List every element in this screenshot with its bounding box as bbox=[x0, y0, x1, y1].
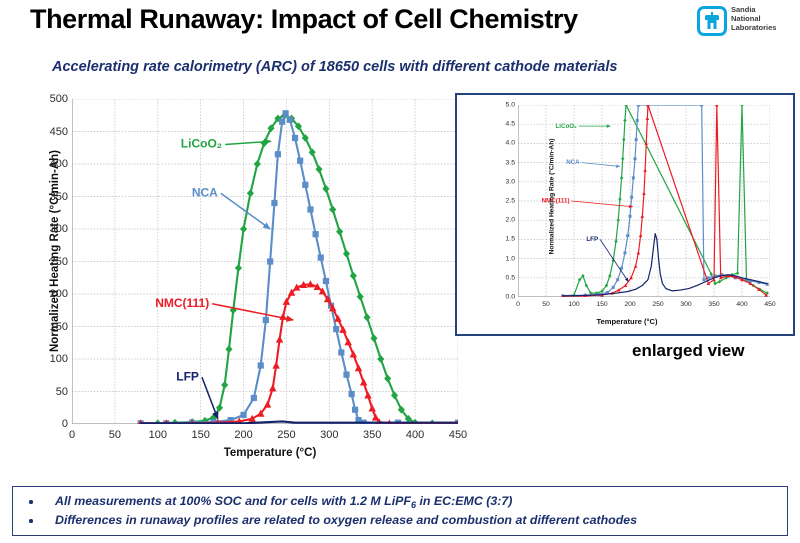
inset-svg-y-tick: 3.0 bbox=[506, 178, 515, 185]
sandia-logo-icon bbox=[697, 6, 727, 36]
main-svg-x-tick: 300 bbox=[320, 429, 338, 441]
sandia-logo: Sandia National Laboratories bbox=[697, 5, 797, 39]
inset-svg-x-tick: 250 bbox=[652, 301, 663, 308]
main-svg-x-tick: 150 bbox=[191, 429, 209, 441]
bullet-item-2: Differences in runaway profiles are rela… bbox=[13, 513, 787, 534]
enlarged-view-label: enlarged view bbox=[632, 341, 744, 361]
inset-svg-x-tick: 150 bbox=[596, 301, 607, 308]
inset-svg-x-tick: 350 bbox=[708, 301, 719, 308]
inset-svg-y-tick: 5.0 bbox=[506, 102, 515, 109]
slide-header: Thermal Runaway: Impact of Cell Chemistr… bbox=[0, 0, 800, 50]
inset-svg-x-tick: 50 bbox=[542, 301, 550, 308]
inset-svg-x-tick: 300 bbox=[680, 301, 691, 308]
slide-subtitle: Accelerating rate calorimetry (ARC) of 1… bbox=[52, 59, 617, 75]
main-chart-plot-area: LiCoO₂NCANMC(111)LFP 0501001502002503003… bbox=[72, 99, 458, 424]
main-svg-x-tick: 0 bbox=[69, 429, 75, 441]
inset-chart-plot-area: Normalized Heating Rate (°C/min-Ah) LiCo… bbox=[518, 105, 770, 297]
inset-svg-x-tick: 450 bbox=[764, 301, 775, 308]
main-svg-y-tick: 150 bbox=[50, 321, 68, 333]
svg-text:LFP: LFP bbox=[176, 369, 199, 383]
main-svg-x-tick: 400 bbox=[406, 429, 424, 441]
main-svg-y-tick: 200 bbox=[50, 288, 68, 300]
svg-text:LiCoO₂: LiCoO₂ bbox=[555, 123, 577, 130]
main-svg-y-tick: 100 bbox=[50, 353, 68, 365]
bullet-dot-icon bbox=[29, 519, 33, 523]
inset-svg-x-tick: 100 bbox=[568, 301, 579, 308]
svg-text:NCA: NCA bbox=[566, 159, 580, 166]
main-chart-svg: LiCoO₂NCANMC(111)LFP bbox=[72, 99, 458, 424]
inset-svg-y-tick: 0.0 bbox=[506, 294, 515, 301]
main-svg-x-tick: 50 bbox=[109, 429, 121, 441]
bullet-box: All measurements at 100% SOC and for cel… bbox=[12, 486, 788, 536]
svg-text:NCA: NCA bbox=[192, 185, 218, 199]
logo-line-1: Sandia bbox=[731, 5, 797, 14]
main-svg-x-tick: 350 bbox=[363, 429, 381, 441]
main-chart-x-axis-label: Temperature (°C) bbox=[70, 447, 470, 459]
main-svg-y-tick: 50 bbox=[56, 386, 68, 398]
main-svg-y-tick: 450 bbox=[50, 126, 68, 138]
inset-svg-x-tick: 0 bbox=[516, 301, 520, 308]
svg-text:LFP: LFP bbox=[586, 236, 598, 243]
inset-svg-y-tick: 1.5 bbox=[506, 236, 515, 243]
main-svg-y-tick: 350 bbox=[50, 191, 68, 203]
svg-text:LiCoO₂: LiCoO₂ bbox=[181, 137, 222, 151]
inset-svg-x-tick: 200 bbox=[624, 301, 635, 308]
svg-text:NMC(111): NMC(111) bbox=[155, 296, 209, 310]
main-svg-x-tick: 250 bbox=[277, 429, 295, 441]
bullet-text-1: All measurements at 100% SOC and for cel… bbox=[55, 494, 512, 510]
inset-svg-y-tick: 3.5 bbox=[506, 159, 515, 166]
page-title: Thermal Runaway: Impact of Cell Chemistr… bbox=[30, 4, 578, 35]
inset-svg-y-tick: 2.0 bbox=[506, 217, 515, 224]
bullet-1-pre: All measurements at 100% SOC and for cel… bbox=[55, 494, 411, 508]
inset-svg-x-tick: 400 bbox=[736, 301, 747, 308]
main-svg-x-tick: 450 bbox=[449, 429, 467, 441]
inset-svg-y-tick: 1.0 bbox=[506, 255, 515, 262]
main-svg-y-tick: 500 bbox=[50, 93, 68, 105]
inset-chart-svg: LiCoO₂NCANMC(111)LFP bbox=[518, 105, 770, 297]
inset-svg-y-tick: 4.5 bbox=[506, 121, 515, 128]
inset-chart: Normalized Heating Rate (°C/min-Ah) LiCo… bbox=[455, 93, 795, 336]
bullet-1-post: in EC:EMC (3:7) bbox=[416, 494, 512, 508]
sandia-logo-text: Sandia National Laboratories bbox=[731, 5, 797, 33]
main-svg-y-tick: 400 bbox=[50, 158, 68, 170]
svg-text:NMC(111): NMC(111) bbox=[542, 198, 570, 205]
main-svg-x-tick: 200 bbox=[234, 429, 252, 441]
main-svg-y-tick: 300 bbox=[50, 223, 68, 235]
bullet-text-2: Differences in runaway profiles are rela… bbox=[55, 513, 637, 527]
main-svg-y-tick: 0 bbox=[62, 418, 68, 430]
inset-chart-x-axis-label: Temperature (°C) bbox=[457, 317, 797, 326]
main-svg-x-tick: 100 bbox=[149, 429, 167, 441]
bullet-dot-icon bbox=[29, 500, 33, 504]
logo-line-3: Laboratories bbox=[731, 23, 797, 32]
inset-chart-y-axis-label: Normalized Heating Rate (°C/min-Ah) bbox=[549, 97, 556, 297]
inset-svg-y-tick: 0.5 bbox=[506, 274, 515, 281]
main-svg-y-tick: 250 bbox=[50, 256, 68, 268]
inset-svg-y-tick: 4.0 bbox=[506, 140, 515, 147]
inset-svg-y-tick: 2.5 bbox=[506, 198, 515, 205]
main-chart: Normalized Heating Rate (°C/min-Ah) Temp… bbox=[10, 95, 470, 475]
bullet-item-1: All measurements at 100% SOC and for cel… bbox=[13, 494, 787, 515]
logo-line-2: National bbox=[731, 14, 797, 23]
